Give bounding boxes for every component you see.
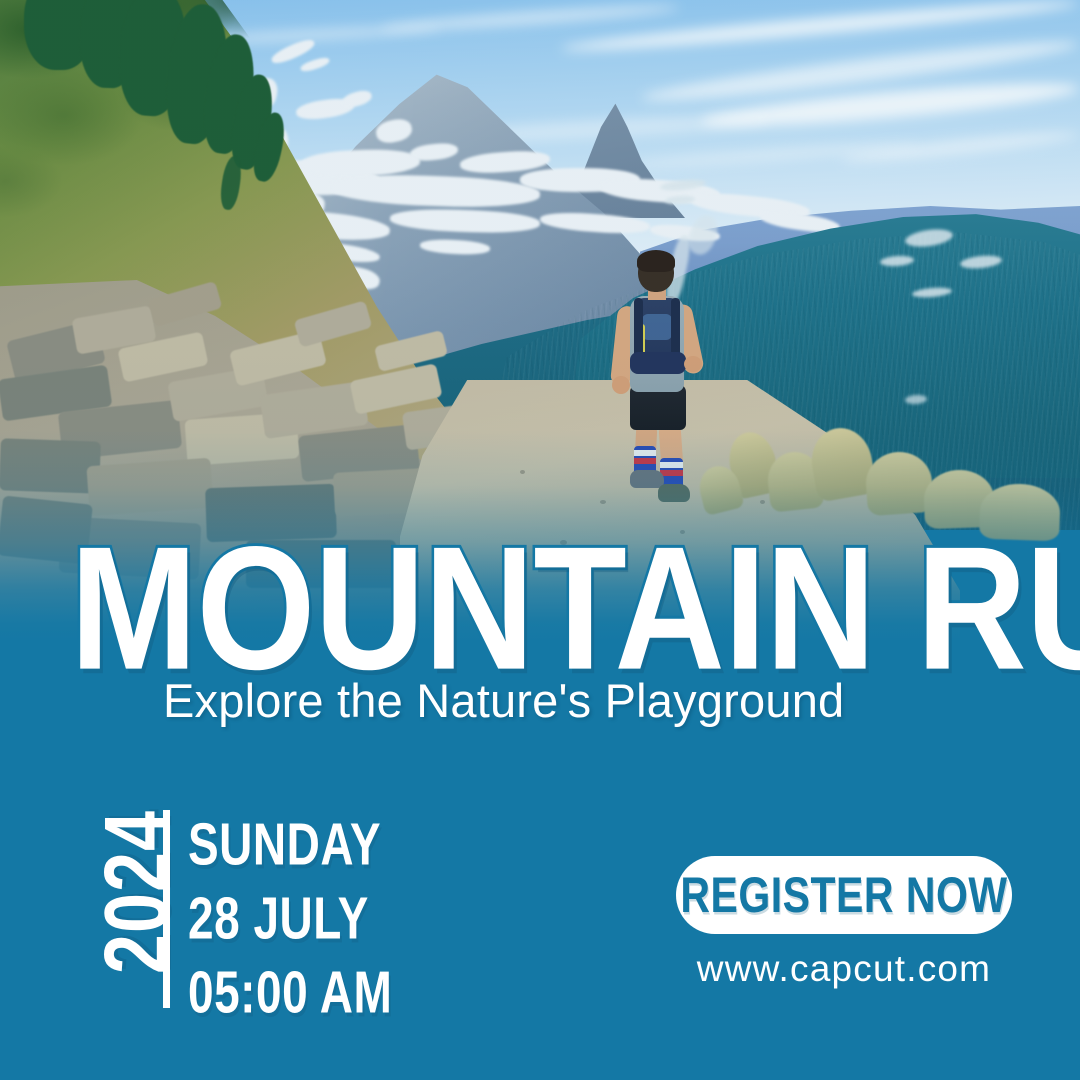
event-day-of-week: SUNDAY (188, 814, 392, 874)
page-subtitle: Explore the Nature's Playground (163, 676, 923, 725)
poster-canvas: MOUNTAIN RUNNING Explore the Nature's Pl… (0, 0, 1080, 1080)
page-title: MOUNTAIN RUNNING (70, 520, 1039, 696)
event-date-lines: SUNDAY 28 JULY 05:00 AM (188, 814, 392, 1008)
runner-pack-pocket (642, 314, 672, 340)
runner-right-hand (684, 356, 702, 372)
runner-hair (637, 250, 675, 272)
event-date: 28 JULY (188, 888, 392, 948)
register-now-button[interactable]: REGISTER NOW (676, 856, 1012, 934)
event-date-block: 2024 SUNDAY 28 JULY 05:00 AM (60, 800, 480, 1015)
call-to-action: REGISTER NOW www.capcut.com (676, 856, 1012, 934)
website-url[interactable]: www.capcut.com (676, 950, 1012, 987)
event-time: 05:00 AM (188, 962, 392, 1022)
register-now-label: REGISTER NOW (680, 870, 1007, 920)
runner-left-hand (612, 376, 630, 394)
runner-waist-belt (630, 352, 686, 374)
vertical-divider (163, 810, 170, 1008)
